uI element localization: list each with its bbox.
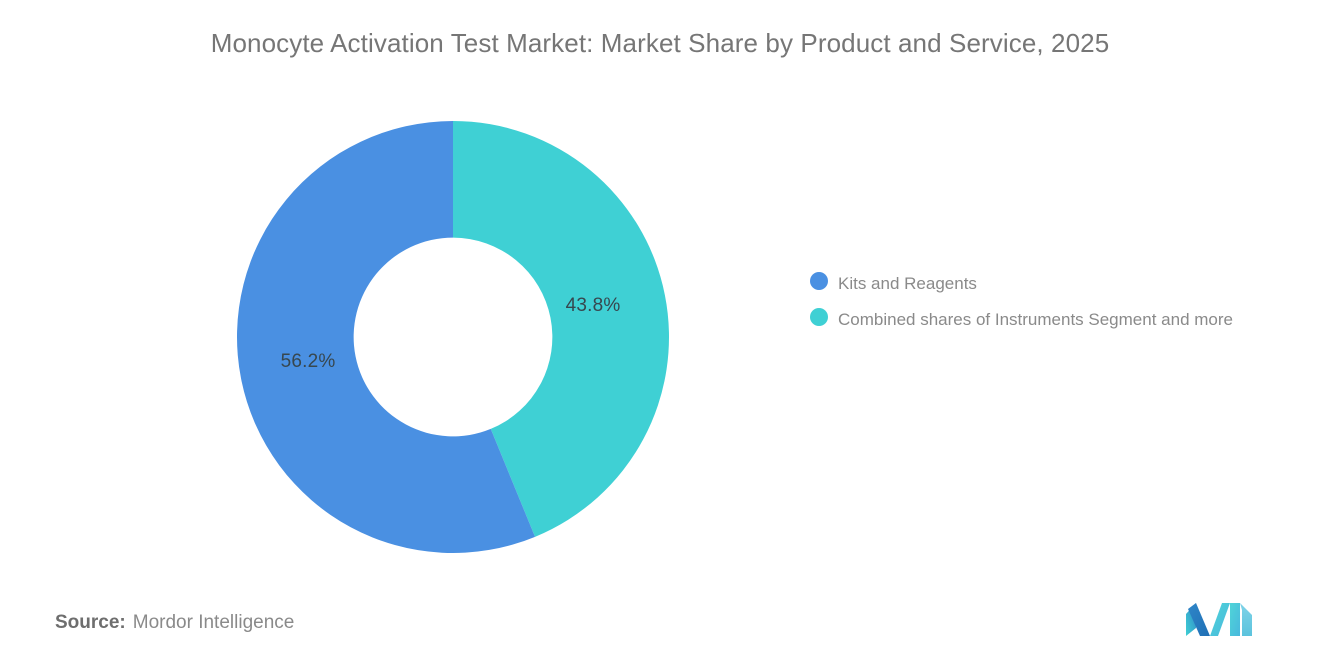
chart-container: Monocyte Activation Test Market: Market … [0,0,1320,665]
source-label: Source: [55,612,126,633]
source-line: Source:Mordor Intelligence [55,612,294,634]
legend-item-kits-and-reagents[interactable]: Kits and Reagents [810,270,1280,299]
slice-label-combined-shares: 43.8% [566,295,621,317]
source-value: Mordor Intelligence [133,612,295,633]
legend-swatch-icon-combined-shares [810,308,828,326]
donut-chart: 56.2% 43.8% [236,120,670,554]
legend-label-combined-shares: Combined shares of Instruments Segment a… [838,306,1233,335]
mordor-intelligence-logo-icon [1186,598,1252,638]
slice-label-kits-and-reagents: 56.2% [281,351,336,373]
donut-chart-svg [236,120,670,554]
chart-title: Monocyte Activation Test Market: Market … [0,28,1320,59]
legend-swatch-icon-kits-and-reagents [810,272,828,290]
legend-item-combined-shares[interactable]: Combined shares of Instruments Segment a… [810,306,1280,335]
legend-label-kits-and-reagents: Kits and Reagents [838,270,977,299]
chart-legend: Kits and Reagents Combined shares of Ins… [810,270,1280,341]
